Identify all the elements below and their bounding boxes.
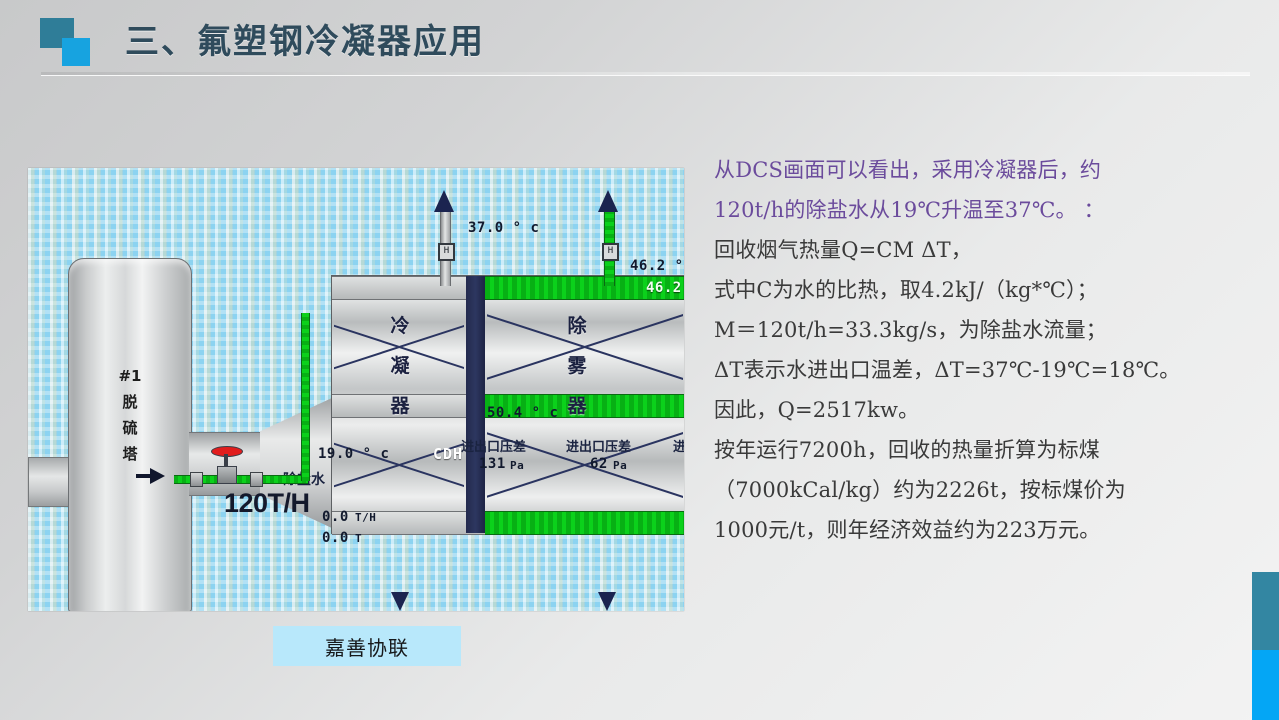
readout-outlet-temp-right: 46.2 ° c <box>630 258 684 274</box>
demister-outlet-flow-arrow-icon <box>598 190 618 212</box>
readout-demister-inline-temp: 46.2 <box>646 280 682 296</box>
label-dp-3: 进 <box>673 436 684 455</box>
tower-name-char-3: 塔 <box>118 441 142 467</box>
body-line-3: 回收烟气热量Q=CM ΔT， <box>714 230 1244 270</box>
header-divider <box>41 72 1250 75</box>
body-line-10: 1000元/t，则年经济效益约为223万元。 <box>714 510 1244 550</box>
readout-dp-unit-2: Pa <box>613 459 627 472</box>
body-line-2: 120t/h的除盐水从19℃升温至37℃。 ： <box>714 190 1244 230</box>
accent-bar-teal <box>1252 572 1279 650</box>
readout-dp-value-2: 62 <box>590 456 608 472</box>
demin-pipe-flange-left <box>190 472 203 487</box>
demin-pipe-flange-right <box>250 472 263 487</box>
vessel-chamber-divider <box>466 276 485 533</box>
body-line-5: M＝120t/h=33.3kg/s，为除盐水流量； <box>714 310 1244 350</box>
readout-dp-unit-1: Pa <box>510 459 524 472</box>
readout-outlet-temp-left: 37.0 ° c <box>468 220 539 236</box>
inlet-flow-arrow-left-icon <box>391 592 409 611</box>
label-dp-1: 进出口压差 <box>461 436 526 455</box>
label-dp-2: 进出口压差 <box>566 436 631 455</box>
cdh-tag-label: CDH <box>433 445 463 463</box>
inlet-flow-arrow-right-icon <box>598 592 616 611</box>
demister-char-2: 雾 <box>563 346 591 386</box>
condenser-outlet-flow-arrow-icon <box>434 190 454 212</box>
body-line-9: （7000kCal/kg）约为2226t，按标煤价为 <box>714 470 1244 510</box>
readout-flow-rate: 0.0 <box>322 509 349 525</box>
body-line-7: 因此，Q=2517kw。 <box>714 390 1244 430</box>
readout-dp-value-1: 131 <box>479 456 506 472</box>
tower-name-char-1: 脱 <box>118 389 142 415</box>
slide-header: 三、氟塑钢冷凝器应用 <box>0 0 1279 92</box>
dcs-screenshot-panel: #1 脱 硫 塔 冷 凝 器 除 雾 器 CDH <box>28 168 684 611</box>
readout-condenser-bottom-temp: 50.4 ° c <box>487 405 558 421</box>
readout-totalizer: 0.0 <box>322 530 349 546</box>
demister-chamber-label: 除 雾 器 <box>563 306 591 426</box>
condenser-chamber-label: 冷 凝 器 <box>386 306 414 426</box>
absorber-tower-label: #1 脱 硫 塔 <box>118 363 142 467</box>
accent-bar-blue <box>1252 650 1279 720</box>
condenser-outlet-gauge-icon: H <box>438 243 455 261</box>
tower-outlet-stub-pipe <box>28 457 72 507</box>
demister-outlet-gauge-icon: H <box>602 243 619 261</box>
image-caption: 嘉善协联 <box>273 626 461 666</box>
valve-plug-icon <box>217 466 237 484</box>
demister-char-3: 器 <box>563 386 591 426</box>
body-line-8: 按年运行7200h，回收的热量折算为标煤 <box>714 430 1244 470</box>
decor-square-light-icon <box>62 38 90 66</box>
demister-green-band-bottom <box>485 511 684 535</box>
control-valve <box>211 446 241 482</box>
body-line-4: 式中C为水的比热，取4.2kJ/（kg*℃）； <box>714 270 1244 310</box>
tower-name-char-2: 硫 <box>118 415 142 441</box>
body-line-1: 从DCS画面可以看出，采用冷凝器后，约 <box>714 150 1244 190</box>
demin-water-riser-pipe <box>301 313 310 481</box>
condenser-char-3: 器 <box>386 386 414 426</box>
tower-tag: #1 <box>118 363 142 389</box>
readout-totalizer-unit: T <box>355 532 362 545</box>
readout-flow-rate-unit: T/H <box>355 511 376 524</box>
readout-demin-water-temp: 19.0 ° c <box>318 446 389 462</box>
readout-flow-design: 120T/H <box>224 488 310 519</box>
condenser-char-1: 冷 <box>386 306 414 346</box>
condenser-char-2: 凝 <box>386 346 414 386</box>
demister-char-1: 除 <box>563 306 591 346</box>
demin-water-flow-arrow-icon <box>150 468 165 484</box>
condenser-xcross-lower <box>334 416 464 511</box>
body-text-block: 从DCS画面可以看出，采用冷凝器后，约120t/h的除盐水从19℃升温至37℃。… <box>714 150 1244 550</box>
body-line-6: ΔT表示水进出口温差，ΔT=37℃-19℃=18℃。 <box>714 350 1244 390</box>
page-title: 三、氟塑钢冷凝器应用 <box>125 14 485 63</box>
